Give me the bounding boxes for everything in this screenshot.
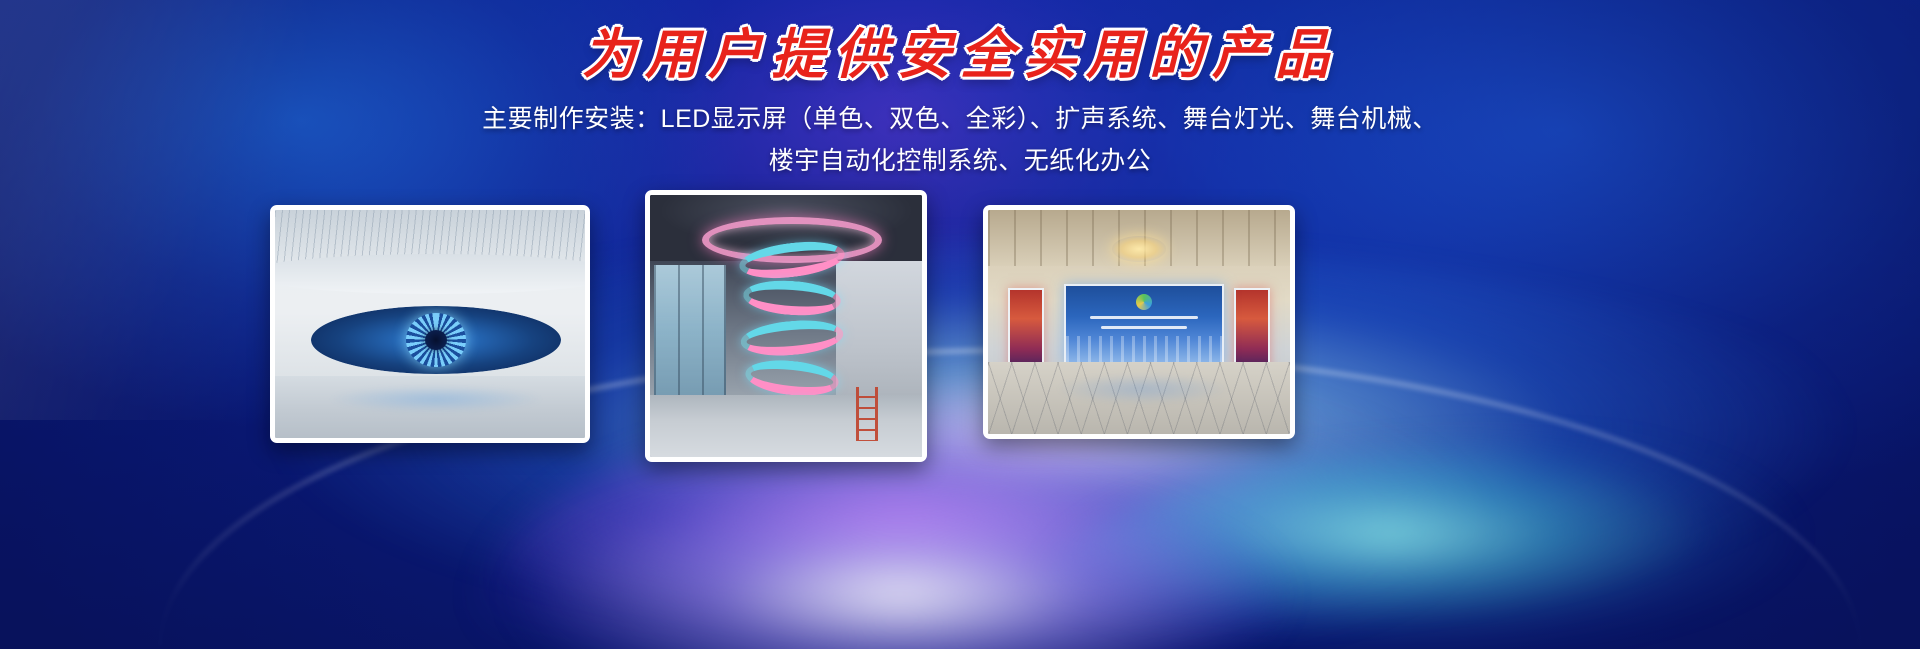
subtitle-line-2: 楼宇自动化控制系统、无纸化办公 [0,140,1920,182]
subtitle-line-1: 主要制作安装：LED显示屏（单色、双色、全彩）、扩声系统、舞台灯光、舞台机械、 [0,98,1920,140]
hall-ceiling-curve [275,254,585,294]
promo-banner: 为用户提供安全实用的产品 主要制作安装：LED显示屏（单色、双色、全彩）、扩声系… [0,0,1920,649]
lobby-floor [650,395,922,457]
spiral-band [742,278,842,319]
hall-floor-reflection [331,386,541,412]
photo-eye-content [275,210,585,438]
conference-floor-reflection [1058,374,1228,404]
photo-conference-hall-led-backdrop[interactable] [983,205,1295,439]
banner-copy: 为用户提供安全实用的产品 主要制作安装：LED显示屏（单色、双色、全彩）、扩声系… [0,0,1920,182]
photo-eye-shaped-led-display[interactable] [270,205,590,443]
page-title: 为用户提供安全实用的产品 [0,24,1920,84]
screen-text-line [1090,316,1198,319]
screen-text-line [1101,326,1187,329]
spiral-band [744,356,841,400]
screen-logo-icon [1136,294,1152,310]
eye-led-screen [311,306,561,374]
spiral-band [737,237,846,284]
photo-spiral-content [650,195,922,457]
step-ladder [856,387,878,441]
lobby-glass-wall [654,265,726,415]
chandelier-light [1112,236,1166,262]
photo-hall-content [988,210,1290,434]
photo-spiral-helix-led-display[interactable] [645,190,927,462]
main-led-screen [1064,284,1224,364]
screen-skyline-graphic [1066,336,1222,362]
spiral-band [739,317,845,360]
